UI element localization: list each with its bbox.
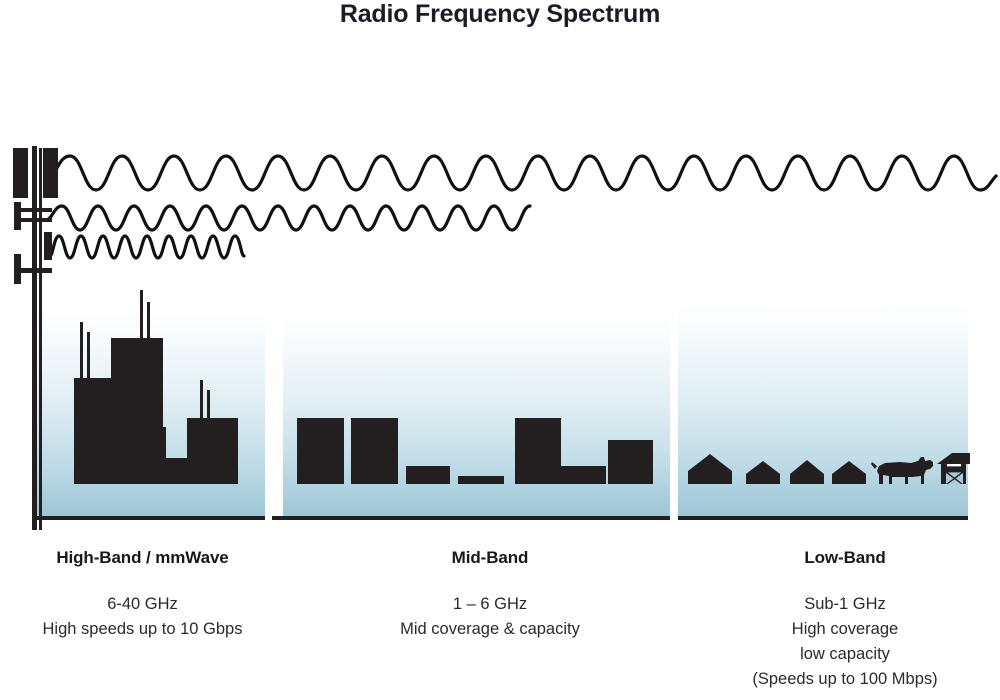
band-extra-low-band-1: low capacity bbox=[690, 642, 1000, 667]
band-desc-mid-band: 1 – 6 GHz Mid coverage & capacity bbox=[340, 592, 640, 642]
scenery-suburban-buildings-detail bbox=[283, 455, 673, 484]
band-desc-low-band: Sub-1 GHz High coverage low capacity (Sp… bbox=[690, 592, 1000, 692]
tower-crossbar-2 bbox=[20, 218, 52, 222]
band-frequency-high-band: 6-40 GHz bbox=[0, 592, 285, 617]
building-block-short bbox=[561, 466, 606, 484]
barn-icon bbox=[937, 453, 970, 484]
house bbox=[790, 460, 824, 484]
house bbox=[688, 454, 732, 484]
band-extra-low-band-2: (Speeds up to 100 Mbps) bbox=[690, 667, 1000, 692]
band-panel-low-band bbox=[678, 304, 968, 516]
wave-mid-band bbox=[46, 206, 530, 230]
house bbox=[832, 461, 866, 484]
band-label-low-band: Low-Band bbox=[690, 548, 1000, 568]
tower-crossbar-3 bbox=[20, 268, 52, 273]
wave-group bbox=[0, 140, 1000, 270]
antenna-panel-mid-right bbox=[44, 232, 52, 260]
band-label-mid-band: Mid-Band bbox=[340, 548, 640, 568]
band-description-high-band: High speeds up to 10 Gbps bbox=[0, 617, 285, 642]
scenery-city-skyline bbox=[32, 290, 268, 484]
cow-icon bbox=[871, 457, 933, 484]
antenna-panel-top-right bbox=[43, 148, 58, 198]
antenna-panel-low-left bbox=[14, 254, 21, 284]
building-skyscraper bbox=[187, 418, 238, 484]
building-spire bbox=[87, 332, 90, 378]
band-label-high-band: High-Band / mmWave bbox=[0, 548, 285, 568]
house bbox=[746, 461, 780, 484]
building-spire bbox=[163, 427, 166, 458]
sky-gradient-low-band bbox=[678, 304, 968, 516]
infographic-canvas: Radio Frequency Spectrum bbox=[0, 0, 1000, 700]
band-desc-high-band: 6-40 GHz High speeds up to 10 Gbps bbox=[0, 592, 285, 642]
building-block-short bbox=[458, 476, 504, 484]
building-skyscraper bbox=[74, 378, 111, 484]
page-title: Radio Frequency Spectrum bbox=[0, 0, 1000, 29]
building-spire bbox=[200, 380, 203, 418]
building-spire bbox=[207, 390, 210, 418]
building-block-short bbox=[406, 466, 450, 484]
band-frequency-low-band: Sub-1 GHz bbox=[690, 592, 1000, 617]
wave-low-band bbox=[48, 156, 996, 190]
scenery-rural-farm bbox=[678, 452, 970, 484]
wave-high-band bbox=[50, 236, 244, 258]
building-spire bbox=[147, 302, 150, 338]
band-description-low-band: High coverage bbox=[690, 617, 1000, 642]
building-spire bbox=[140, 290, 143, 338]
building-spire bbox=[80, 322, 83, 378]
antenna-panel-top-left bbox=[13, 148, 28, 198]
band-description-mid-band: Mid coverage & capacity bbox=[340, 617, 640, 642]
ground-line-mid-band bbox=[272, 516, 670, 520]
band-frequency-mid-band: 1 – 6 GHz bbox=[340, 592, 640, 617]
antenna-panel-mid-left bbox=[14, 202, 21, 230]
tower-crossbar-1 bbox=[20, 208, 52, 212]
ground-line-low-band bbox=[678, 516, 968, 520]
